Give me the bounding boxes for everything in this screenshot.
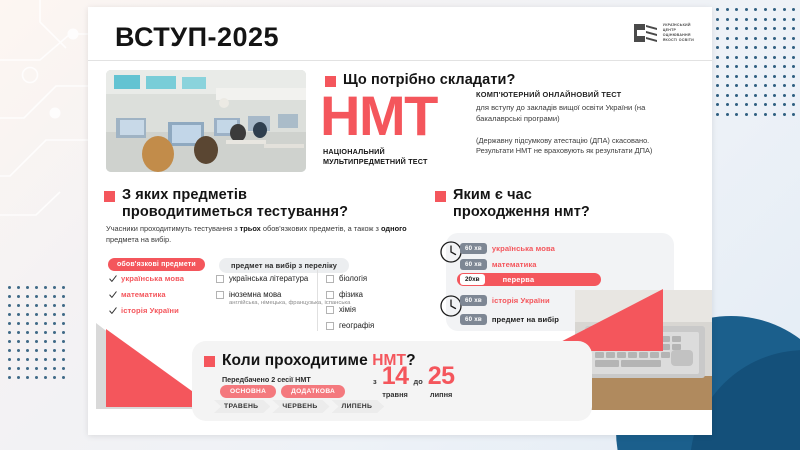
dot [745, 56, 748, 59]
dot [764, 113, 767, 116]
to-date: 25 липня [428, 365, 455, 399]
intro-part-b: трьох [240, 224, 261, 233]
time-row-1: 60 хв математика [460, 259, 537, 270]
checkbox-unchecked-icon[interactable] [326, 275, 334, 283]
clock-icon-top [440, 241, 462, 263]
time-subject-name: українська мова [492, 244, 555, 253]
dot [35, 331, 38, 334]
optional-subject-label: географія [339, 321, 374, 331]
dot [44, 349, 47, 352]
dot [716, 113, 719, 116]
dot [26, 286, 29, 289]
dot [716, 103, 719, 106]
dot [8, 286, 11, 289]
dot [754, 113, 757, 116]
logo-book-icon [632, 21, 658, 45]
dot [764, 56, 767, 59]
dot [745, 8, 748, 11]
dot [764, 84, 767, 87]
dot [735, 8, 738, 11]
dot [773, 46, 776, 49]
dot [726, 103, 729, 106]
optional-subjects-label: предмет на вибір з переліку [219, 258, 349, 273]
dot [35, 295, 38, 298]
dot [783, 75, 786, 78]
dot [53, 322, 56, 325]
dot [726, 56, 729, 59]
nmt-desc-body: для вступу до закладів вищої освіти Укра… [476, 102, 688, 124]
dot [792, 27, 795, 30]
dot [35, 358, 38, 361]
dot [716, 84, 719, 87]
dot [8, 331, 11, 334]
to-word: до [414, 377, 423, 399]
dot [716, 56, 719, 59]
dot [754, 56, 757, 59]
dot [62, 376, 65, 379]
dot [62, 286, 65, 289]
dot [745, 46, 748, 49]
checkbox-unchecked-icon[interactable] [326, 291, 334, 299]
time-title-line-2: проходження нмт? [453, 204, 590, 221]
dot [716, 27, 719, 30]
dot [792, 65, 795, 68]
dot [8, 358, 11, 361]
dot [783, 113, 786, 116]
dot [726, 8, 729, 11]
duration-chip: 60 хв [460, 259, 487, 270]
time-subject-name: математика [492, 260, 537, 269]
dot [735, 84, 738, 87]
dot [44, 376, 47, 379]
dot [35, 349, 38, 352]
required-subject-item[interactable]: математика [109, 290, 184, 299]
dot [44, 331, 47, 334]
dot [26, 349, 29, 352]
dot [792, 103, 795, 106]
dot [44, 367, 47, 370]
dot [35, 286, 38, 289]
dot [764, 27, 767, 30]
dot [783, 103, 786, 106]
dot [754, 103, 757, 106]
dot [44, 295, 47, 298]
to-month: липня [428, 390, 455, 399]
dot [44, 286, 47, 289]
dot [726, 46, 729, 49]
checkbox-unchecked-icon[interactable] [326, 322, 334, 330]
content-card: ВСТУП-2025 УКРАЇНСЬКИЙ ЦЕНТР ОЦІНЮВАННЯ … [88, 7, 712, 435]
from-day: 14 [382, 365, 409, 388]
required-subject-item[interactable]: українська мова [109, 274, 184, 283]
dot [8, 295, 11, 298]
dot [17, 358, 20, 361]
checkbox-unchecked-icon[interactable] [216, 275, 224, 283]
dot [764, 103, 767, 106]
dot [53, 340, 56, 343]
dot [62, 331, 65, 334]
dot [792, 56, 795, 59]
dot [8, 322, 11, 325]
optional-subject-item[interactable]: географія [326, 321, 374, 331]
dot [783, 46, 786, 49]
month-chevron: ТРАВЕНЬ [214, 400, 270, 413]
required-subjects-label: обов'язкові предмети [108, 258, 205, 271]
dot [53, 349, 56, 352]
from-word: з [373, 377, 377, 399]
dot [773, 18, 776, 21]
time-title-line-1: Яким є час [453, 187, 590, 204]
dot [754, 94, 757, 97]
dot [44, 304, 47, 307]
nmt-expansion-line-2: МУЛЬТИПРЕДМЕТНИЙ ТЕСТ [323, 157, 428, 167]
dot [35, 304, 38, 307]
optional-subject-item[interactable]: фізика [326, 290, 374, 300]
required-subject-label: математика [121, 290, 166, 299]
dot [773, 27, 776, 30]
dot [35, 376, 38, 379]
intro-part-a: Учасники проходитимуть тестування з [106, 224, 240, 233]
duration-chip: 60 хв [460, 295, 487, 306]
duration-chip: 60 хв [460, 243, 487, 254]
dot [764, 65, 767, 68]
dot [745, 84, 748, 87]
dot [8, 340, 11, 343]
dot [726, 84, 729, 87]
dot [764, 18, 767, 21]
dot [716, 37, 719, 40]
ukrainian-center-logo: УКРАЇНСЬКИЙ ЦЕНТР ОЦІНЮВАННЯ ЯКОСТІ ОСВІ… [632, 21, 694, 45]
from-date: 14 травня [382, 365, 409, 399]
dot [726, 75, 729, 78]
dot [35, 322, 38, 325]
dot [745, 103, 748, 106]
dot [62, 367, 65, 370]
dot [735, 65, 738, 68]
dot [745, 18, 748, 21]
dot [735, 94, 738, 97]
dot [53, 367, 56, 370]
dot [735, 37, 738, 40]
dot [26, 313, 29, 316]
dot [35, 340, 38, 343]
dot [792, 37, 795, 40]
month-chevrons: ТРАВЕНЬЧЕРВЕНЬЛИПЕНЬ [214, 400, 386, 413]
optional-subjects-column-2: біологіяфізикахіміягеографія [326, 274, 374, 337]
dot [17, 286, 20, 289]
logo-line-4: ЯКОСТІ ОСВІТИ [663, 38, 694, 43]
bullet-square-icon [104, 191, 115, 202]
dot [792, 8, 795, 11]
header-divider [88, 60, 712, 61]
dot [735, 27, 738, 30]
dot [716, 94, 719, 97]
dot [26, 376, 29, 379]
dot [773, 113, 776, 116]
from-month: травня [382, 390, 409, 399]
dot [773, 56, 776, 59]
session-pill: ОСНОВНА [220, 385, 276, 398]
time-subject-name: історія України [492, 296, 550, 305]
dot [62, 322, 65, 325]
dot [745, 113, 748, 116]
optional-subject-item[interactable]: біологія [326, 274, 374, 284]
nmt-desc-note: (Державну підсумкову атестацію (ДПА) ска… [476, 136, 688, 158]
dot [783, 37, 786, 40]
dot [735, 113, 738, 116]
bullet-square-icon [204, 356, 215, 367]
dot [764, 37, 767, 40]
dot [773, 75, 776, 78]
dot [8, 304, 11, 307]
checkbox-checked-icon[interactable] [109, 275, 117, 283]
dot [8, 367, 11, 370]
dot [735, 18, 738, 21]
dot [53, 358, 56, 361]
dot [62, 358, 65, 361]
dot [53, 286, 56, 289]
classroom-photo [106, 70, 306, 172]
subjects-title-line-2: проводитиметься тестування? [122, 204, 348, 221]
dot [17, 313, 20, 316]
dot [62, 313, 65, 316]
subjects-title-line-1: З яких предметів [122, 187, 348, 204]
date-range: з 14 травня до 25 липня [373, 365, 455, 399]
dot [783, 27, 786, 30]
subjects-intro: Учасники проходитимуть тестування з трьо… [106, 223, 426, 245]
page-title: ВСТУП-2025 [115, 22, 279, 53]
duration-chip: 60 хв [460, 314, 487, 325]
dot [8, 376, 11, 379]
dot [53, 295, 56, 298]
dot [726, 113, 729, 116]
dot [17, 340, 20, 343]
dot [17, 322, 20, 325]
nmt-description: КОМП'ЮТЕРНИЙ ОНЛАЙНОВИЙ ТЕСТ для вступу … [476, 90, 688, 157]
duration-chip-break: 20хв [460, 274, 485, 285]
dot [17, 367, 20, 370]
clock-icon-bottom [440, 295, 462, 317]
dot [62, 340, 65, 343]
required-subjects-list: українська моваматематикаісторія України [109, 274, 184, 322]
to-day: 25 [428, 365, 455, 388]
dot [62, 349, 65, 352]
required-subject-label: українська мова [121, 274, 184, 283]
dot [773, 65, 776, 68]
session-pill: ДОДАТКОВА [281, 385, 345, 398]
dot [754, 65, 757, 68]
dot [754, 18, 757, 21]
dot [44, 340, 47, 343]
intro-part-c: обов'язкових предметів, а також з [261, 224, 381, 233]
intro-part-e: предмета на вибір. [106, 235, 171, 244]
time-row-break: 20хв перерва [457, 273, 601, 286]
checkbox-checked-icon[interactable] [109, 291, 117, 299]
dot [53, 376, 56, 379]
dot [773, 8, 776, 11]
month-chevron: ЧЕРВЕНЬ [272, 400, 329, 413]
dot [26, 322, 29, 325]
dot [716, 18, 719, 21]
dot [745, 65, 748, 68]
dot [726, 37, 729, 40]
dot [792, 75, 795, 78]
dot [783, 94, 786, 97]
dot [783, 8, 786, 11]
dot [754, 37, 757, 40]
dot [17, 349, 20, 352]
dot [754, 46, 757, 49]
dot [62, 304, 65, 307]
logo-text: УКРАЇНСЬКИЙ ЦЕНТР ОЦІНЮВАННЯ ЯКОСТІ ОСВІ… [663, 23, 694, 43]
break-label: перерва [503, 275, 535, 284]
when-subtitle: Передбачено 2 сесії НМТ [222, 375, 311, 384]
nmt-desc-head: КОМП'ЮТЕРНИЙ ОНЛАЙНОВИЙ ТЕСТ [476, 90, 688, 100]
dot [783, 18, 786, 21]
bullet-square-icon [435, 191, 446, 202]
time-row-3: 60 хв історія України [460, 295, 550, 306]
dot [773, 37, 776, 40]
dot [726, 65, 729, 68]
dot [53, 304, 56, 307]
dot [26, 358, 29, 361]
intro-part-d: одного [381, 224, 407, 233]
dot [53, 313, 56, 316]
dot [745, 75, 748, 78]
dot [745, 37, 748, 40]
dot [26, 304, 29, 307]
dot [745, 27, 748, 30]
dot [26, 367, 29, 370]
dot [745, 94, 748, 97]
required-subject-label: історія України [121, 306, 179, 315]
slide-canvas: ВСТУП-2025 УКРАЇНСЬКИЙ ЦЕНТР ОЦІНЮВАННЯ … [0, 0, 800, 450]
section-title-time-text: Яким є час проходження нмт? [453, 187, 590, 221]
card-header: ВСТУП-2025 УКРАЇНСЬКИЙ ЦЕНТР ОЦІНЮВАННЯ … [88, 7, 712, 60]
dot [792, 84, 795, 87]
dot [44, 313, 47, 316]
dot [8, 349, 11, 352]
optional-subject-item[interactable]: хімія [326, 305, 374, 315]
dot [8, 313, 11, 316]
dot [783, 56, 786, 59]
checkbox-unchecked-icon[interactable] [216, 291, 224, 299]
dot [764, 46, 767, 49]
optional-subject-label: хімія [339, 305, 356, 315]
dot [44, 322, 47, 325]
dot [35, 313, 38, 316]
dot [716, 8, 719, 11]
dot [17, 304, 20, 307]
dot [792, 46, 795, 49]
nmt-expansion: НАЦІОНАЛЬНИЙ МУЛЬТИПРЕДМЕТНИЙ ТЕСТ [323, 147, 428, 167]
dot [773, 94, 776, 97]
dot [17, 331, 20, 334]
dot [773, 103, 776, 106]
dot [26, 340, 29, 343]
dot [26, 331, 29, 334]
dot [764, 94, 767, 97]
optional-subject-label: фізика [339, 290, 363, 300]
dot [735, 46, 738, 49]
dot [764, 8, 767, 11]
dot [726, 27, 729, 30]
dot [783, 84, 786, 87]
dot [716, 65, 719, 68]
dot [716, 46, 719, 49]
dot [716, 75, 719, 78]
optional-subject-label: біологія [339, 274, 367, 284]
dot [26, 295, 29, 298]
dot [35, 367, 38, 370]
dot [726, 18, 729, 21]
checkbox-unchecked-icon[interactable] [326, 306, 334, 314]
dot [754, 8, 757, 11]
month-chevron: ЛИПЕНЬ [332, 400, 385, 413]
dot [792, 113, 795, 116]
dot [783, 65, 786, 68]
dot [62, 295, 65, 298]
dot [17, 376, 20, 379]
dot [754, 27, 757, 30]
when-title-part-a: Коли проходитиме [222, 352, 372, 369]
dot [735, 75, 738, 78]
dot [17, 295, 20, 298]
section-title-subjects: З яких предметів проводитиметься тестува… [104, 187, 414, 221]
dot [754, 75, 757, 78]
section-title-time: Яким є час проходження нмт? [435, 187, 695, 221]
required-subject-item[interactable]: історія України [109, 306, 184, 315]
dot [44, 358, 47, 361]
dot [754, 84, 757, 87]
dot [735, 56, 738, 59]
dot [726, 94, 729, 97]
nmt-abbreviation: НМТ [320, 89, 437, 142]
dot [773, 84, 776, 87]
section-title-subjects-text: З яких предметів проводитиметься тестува… [122, 187, 348, 221]
checkbox-checked-icon[interactable] [109, 307, 117, 315]
dot [53, 331, 56, 334]
optional-subject-label: українська література [229, 274, 308, 284]
dot [792, 18, 795, 21]
dot [735, 103, 738, 106]
nmt-expansion-line-1: НАЦІОНАЛЬНИЙ [323, 147, 428, 157]
time-row-0: 60 хв українська мова [460, 243, 555, 254]
dot [792, 94, 795, 97]
session-pills: ОСНОВНАДОДАТКОВА [220, 385, 345, 398]
dot [764, 75, 767, 78]
